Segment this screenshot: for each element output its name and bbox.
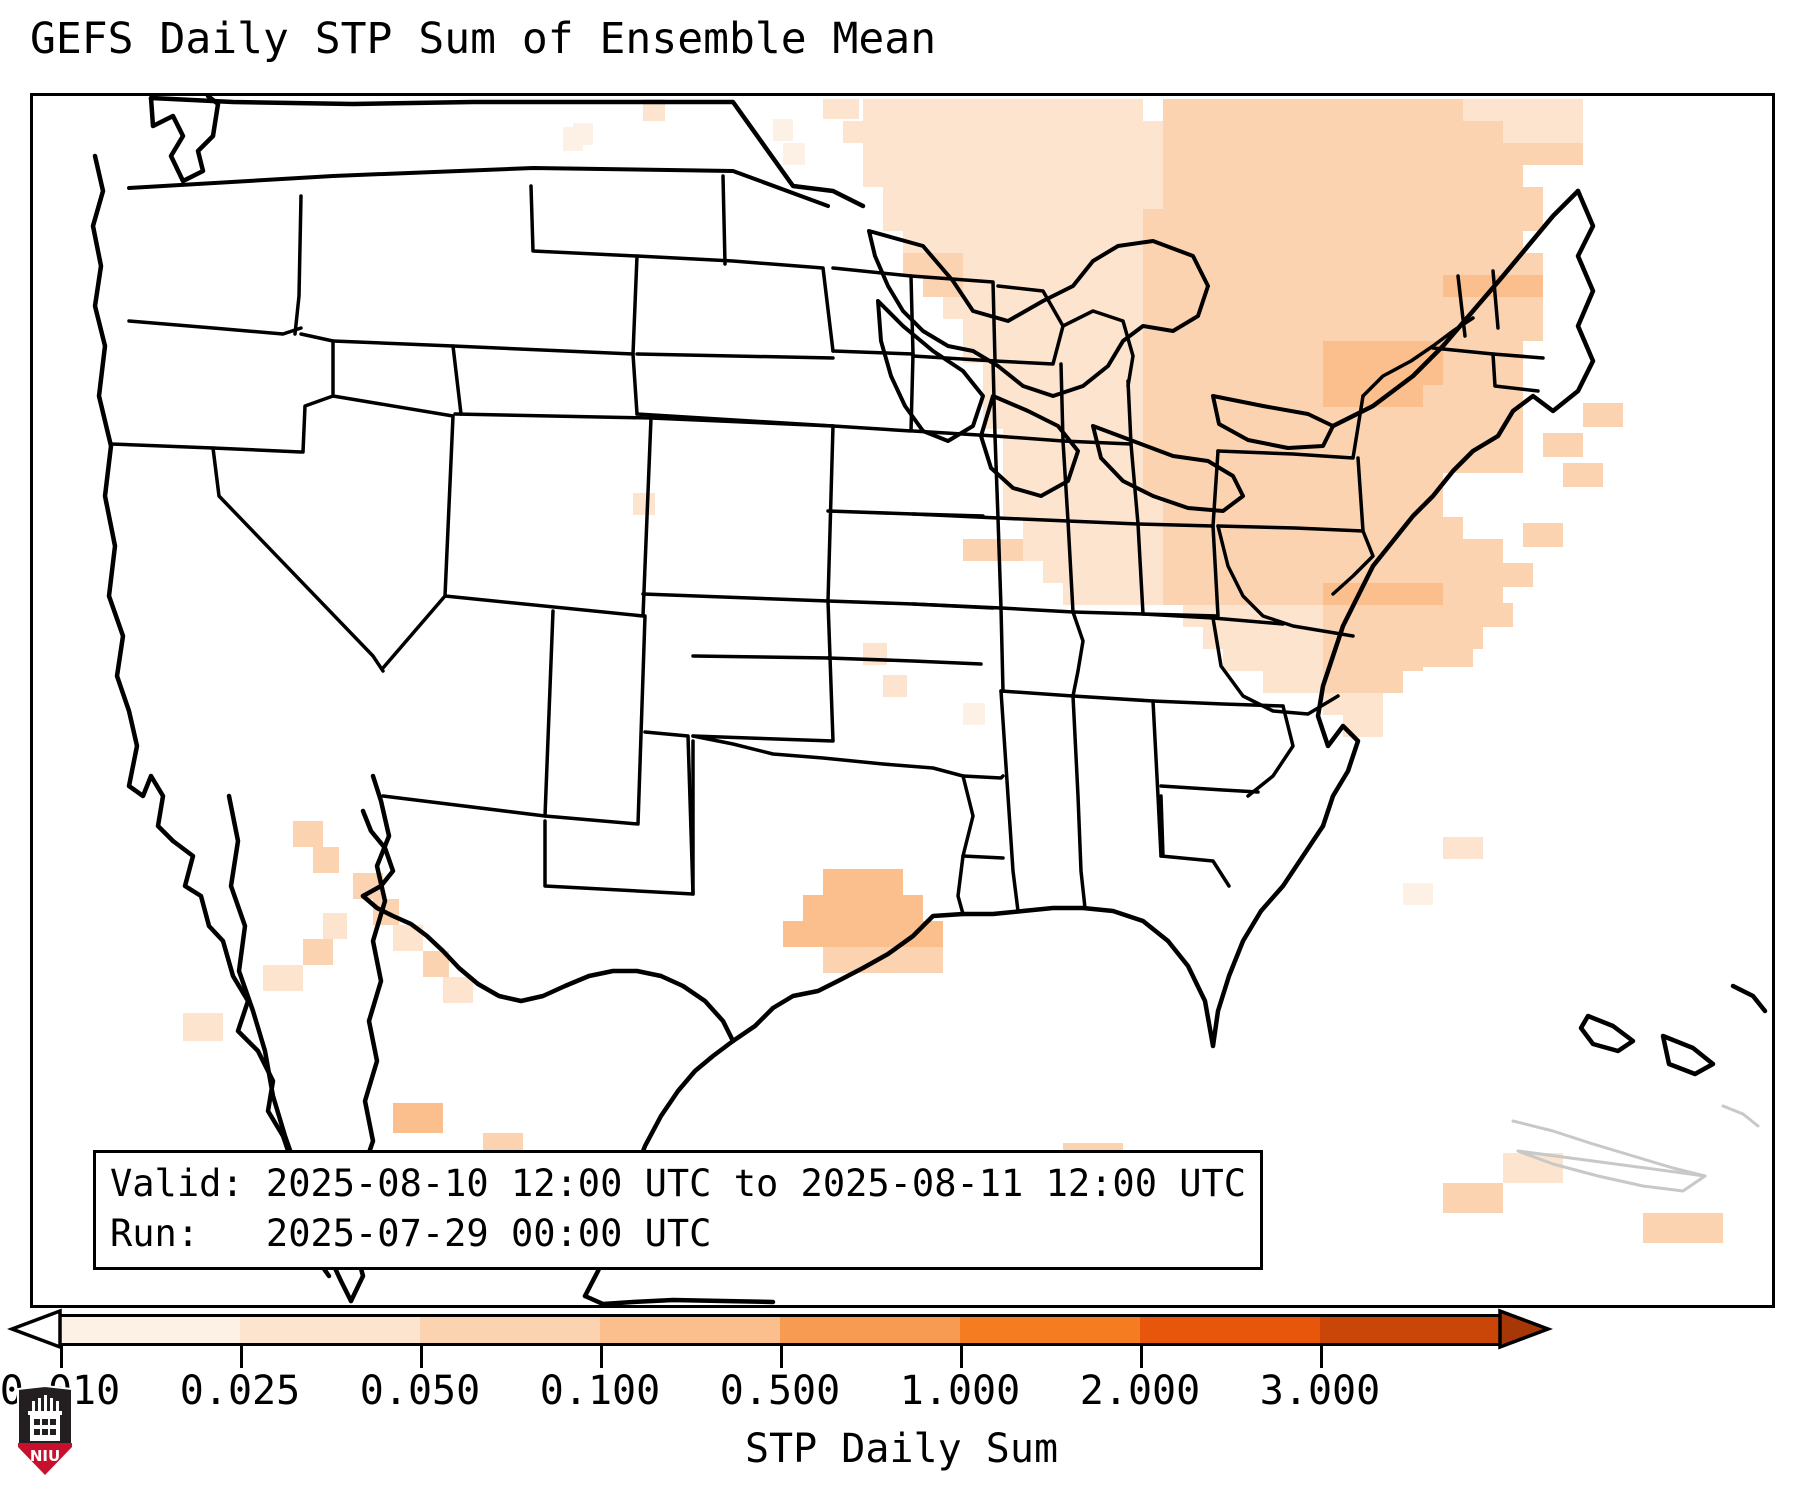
geography-layer [33,96,1772,1305]
colorbar-tick-label-4: 0.500 [720,1368,840,1414]
colorbar-tick-label-6: 2.000 [1080,1368,1200,1414]
colorbar-tick-6 [1140,1346,1143,1368]
colorbar-tick-label-7: 3.000 [1260,1368,1380,1414]
colorbar-tick-5 [960,1346,963,1368]
colorbar-axis-label: STP Daily Sum [0,1426,1803,1472]
colorbar-tick-label-5: 1.000 [900,1368,1020,1414]
valid-time-line: Valid: 2025-08-10 12:00 UTC to 2025-08-1… [110,1159,1246,1209]
colorbar-region[interactable]: 0.0100.0250.0500.1000.5001.0002.0003.000… [0,1308,1803,1500]
colorbar[interactable] [60,1314,1500,1346]
colorbar-tick-7 [1320,1346,1323,1368]
map-panel[interactable]: Valid: 2025-08-10 12:00 UTC to 2025-08-1… [30,93,1775,1308]
colorbar-tick-label-2: 0.050 [360,1368,480,1414]
colorbar-ticks [60,1346,1500,1368]
colorbar-tick-3 [600,1346,603,1368]
niu-logo-text: NIU [30,1447,60,1465]
colorbar-tick-1 [240,1346,243,1368]
colorbar-tick-labels: 0.0100.0250.0500.1000.5001.0002.0003.000 [0,1368,1803,1418]
map-clip: Valid: 2025-08-10 12:00 UTC to 2025-08-1… [33,96,1772,1305]
info-box: Valid: 2025-08-10 12:00 UTC to 2025-08-1… [93,1150,1263,1270]
colorbar-tick-label-3: 0.100 [540,1368,660,1414]
colorbar-tick-2 [420,1346,423,1368]
colorbar-tick-4 [780,1346,783,1368]
colorbar-tick-0 [60,1346,63,1368]
niu-logo[interactable]: NIU [14,1385,76,1477]
figure-root: GEFS Daily STP Sum of Ensemble Mean [0,0,1803,1500]
page-title: GEFS Daily STP Sum of Ensemble Mean [30,14,936,64]
colorbar-tick-label-1: 0.025 [180,1368,300,1414]
run-time-line: Run: 2025-07-29 00:00 UTC [110,1209,1246,1259]
